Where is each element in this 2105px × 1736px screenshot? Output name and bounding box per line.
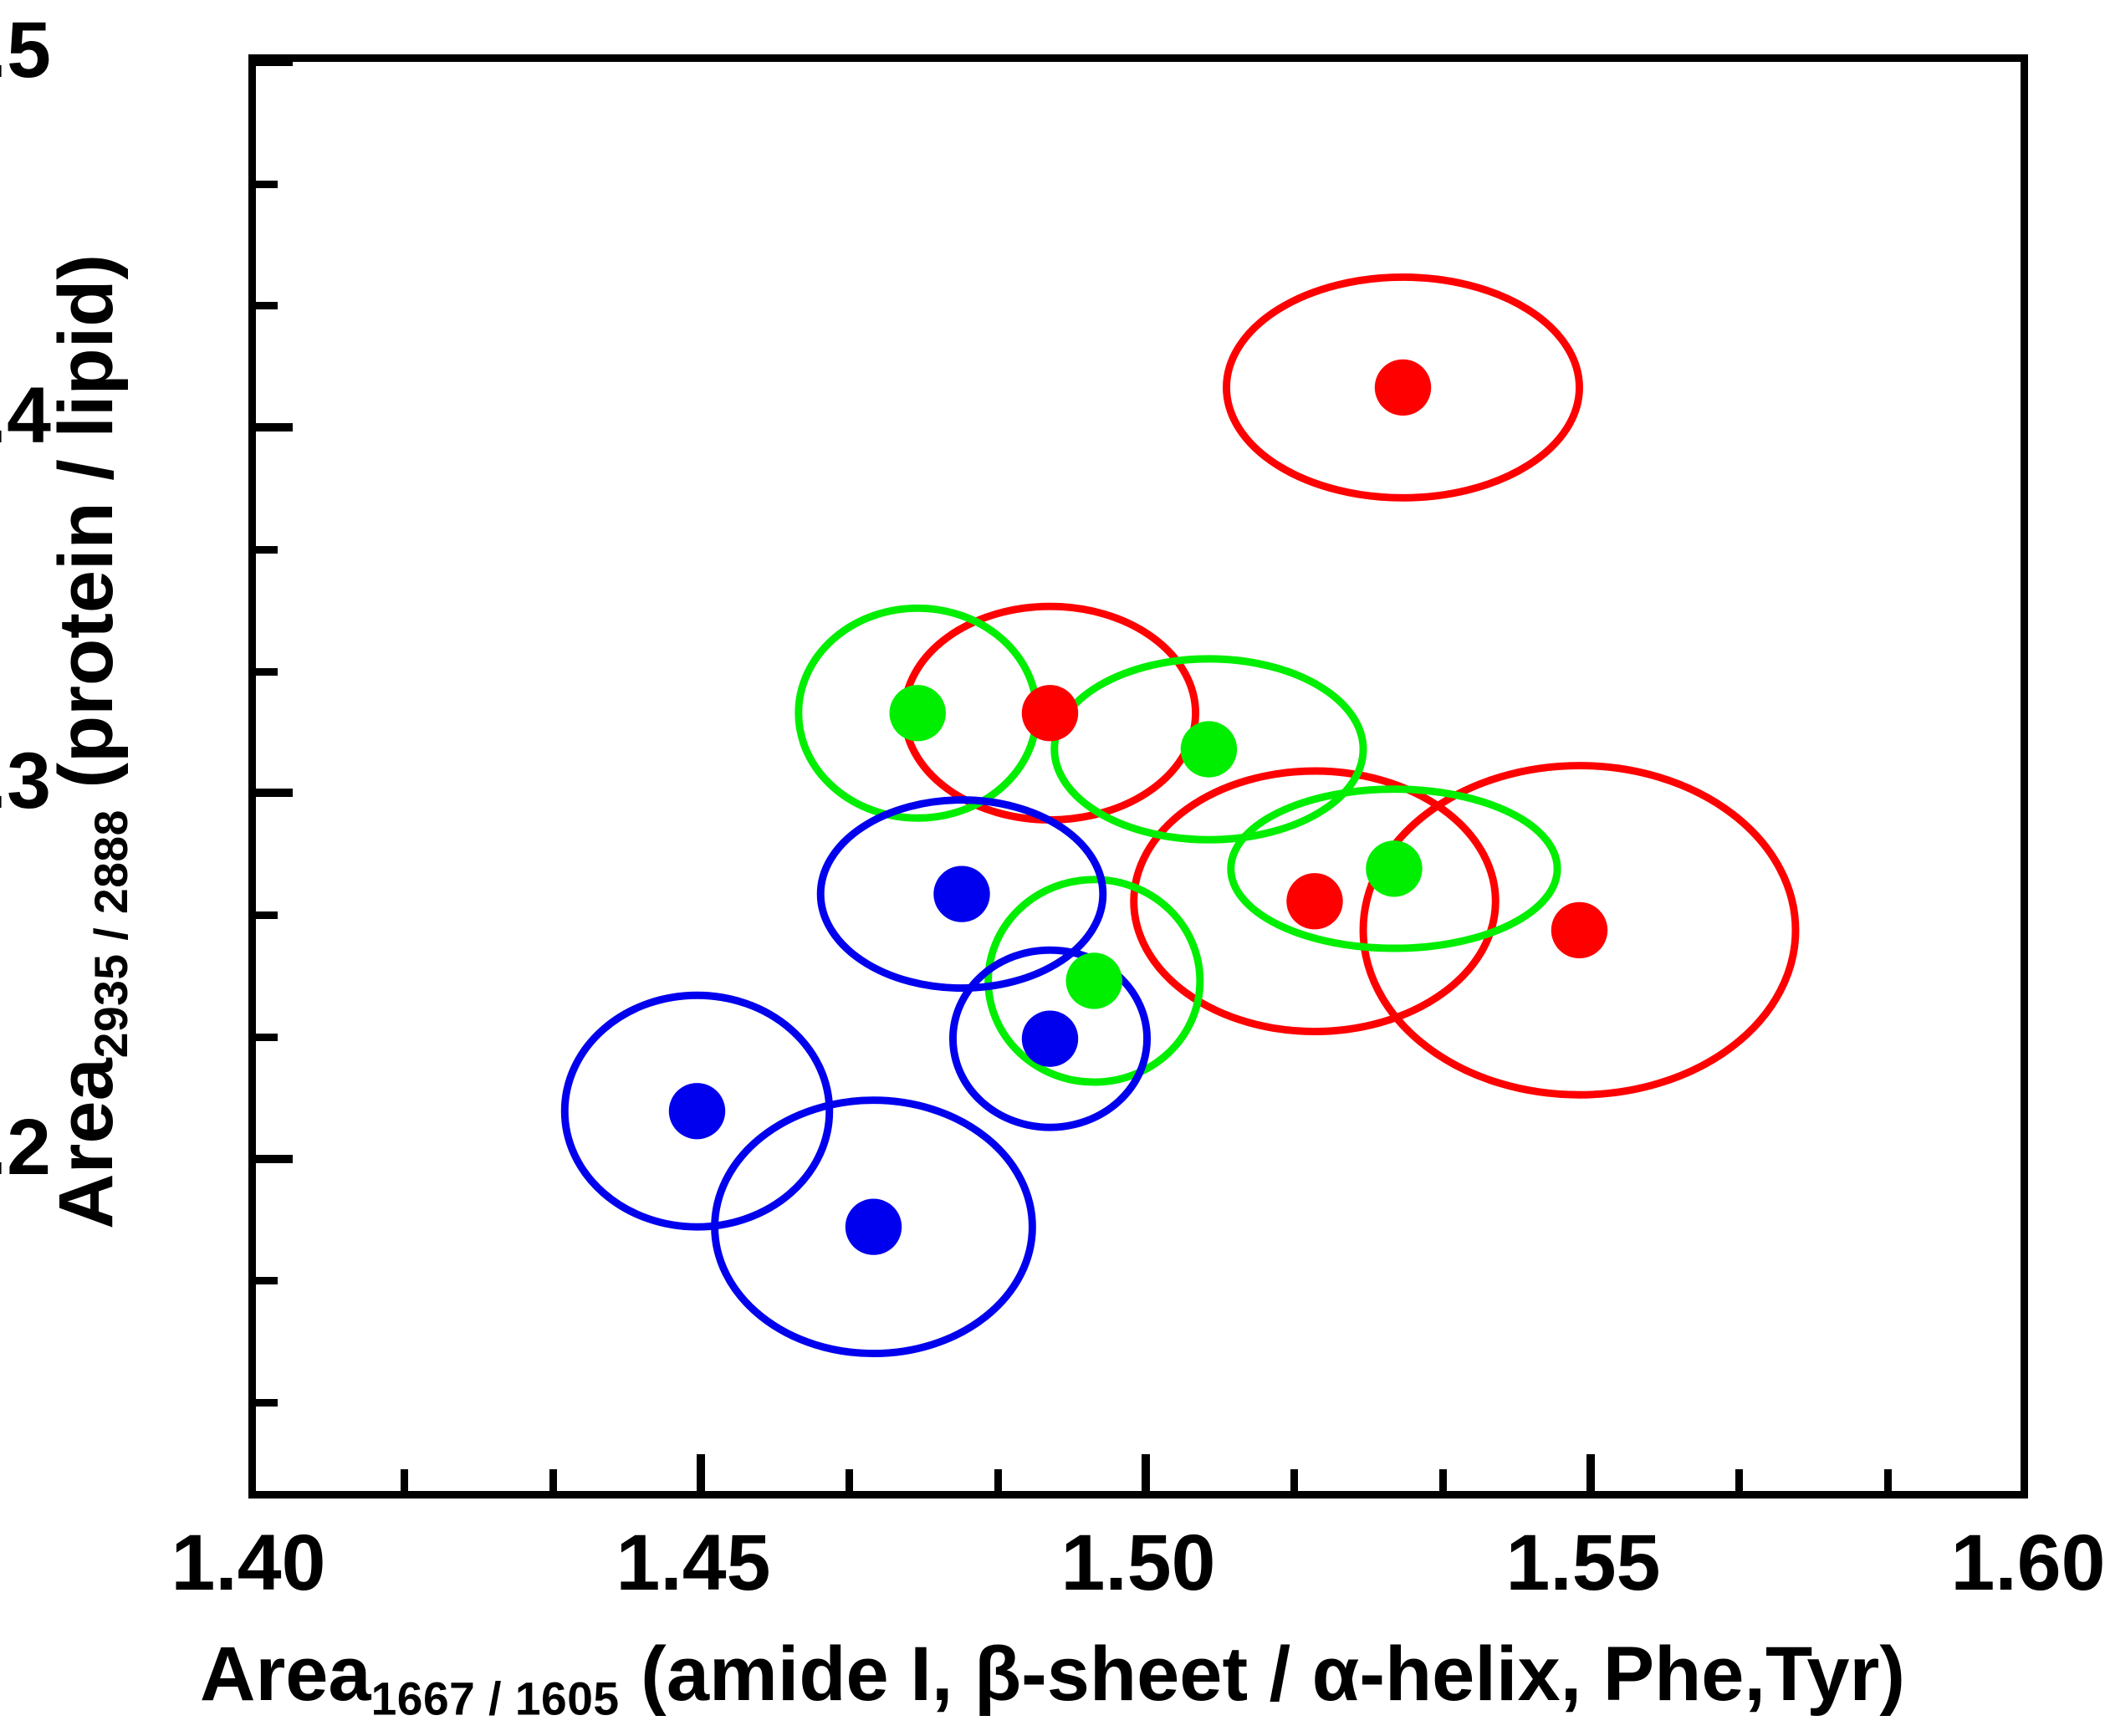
x-tick-label-2: 1.50 bbox=[1061, 1524, 1216, 1603]
x-tick-label-3: 1.55 bbox=[1506, 1524, 1661, 1603]
y-tick-minor bbox=[256, 302, 278, 309]
data-point-red-0[interactable] bbox=[1375, 360, 1431, 416]
x-tick-minor bbox=[1439, 1469, 1447, 1491]
data-point-green-2[interactable] bbox=[1366, 840, 1422, 896]
y-tick-minor bbox=[256, 546, 278, 554]
x-tick-minor bbox=[1884, 1469, 1892, 1491]
plot-area bbox=[248, 54, 2028, 1499]
x-tick-minor bbox=[994, 1469, 1002, 1491]
y-axis-title-subscript: 2935 / 2888 bbox=[85, 809, 137, 1058]
y-axis-title-suffix: (protein / lipid) bbox=[43, 254, 129, 809]
data-point-red-3[interactable] bbox=[1551, 902, 1607, 958]
y-tick-major-3 bbox=[256, 1155, 293, 1163]
y-tick-minor bbox=[256, 1034, 278, 1041]
x-axis-title: Area1667 / 1605 (amide I, β-sheet / α-he… bbox=[0, 1631, 2105, 1726]
data-point-blue-2[interactable] bbox=[669, 1083, 725, 1139]
data-point-blue-0[interactable] bbox=[933, 865, 989, 922]
y-axis-title-prefix: Area bbox=[43, 1058, 129, 1229]
data-point-blue-1[interactable] bbox=[1022, 1011, 1078, 1067]
y-tick-minor bbox=[256, 181, 278, 188]
plot-canvas bbox=[256, 62, 2021, 1491]
y-tick-major-1 bbox=[256, 423, 293, 431]
y-axis-title: Area2935 / 2888 (protein / lipid) bbox=[43, 31, 138, 1453]
x-axis-title-subscript: 1667 / 1605 bbox=[371, 1673, 620, 1725]
x-axis-title-suffix: (amide I, β-sheet / α-helix, Phe,Tyr) bbox=[620, 1631, 1905, 1717]
data-point-green-0[interactable] bbox=[890, 685, 946, 741]
data-point-red-2[interactable] bbox=[1286, 873, 1342, 929]
data-point-blue-3[interactable] bbox=[846, 1199, 902, 1255]
y-tick-minor bbox=[256, 1277, 278, 1284]
confidence-ellipses-layer bbox=[565, 277, 1796, 1353]
y-tick-major-0 bbox=[256, 58, 293, 66]
x-tick-minor bbox=[846, 1469, 853, 1491]
data-point-green-1[interactable] bbox=[1181, 721, 1237, 777]
x-tick-label-1: 1.45 bbox=[616, 1524, 771, 1603]
x-tick-minor bbox=[1735, 1469, 1743, 1491]
x-axis-title-prefix: Area bbox=[200, 1631, 371, 1717]
data-point-red-1[interactable] bbox=[1022, 685, 1078, 741]
y-tick-minor bbox=[256, 911, 278, 919]
x-tick-major-1 bbox=[697, 1454, 705, 1491]
scatter-plot-figure: 1.51.41.31.21.401.451.501.551.60 Area293… bbox=[0, 0, 2105, 1736]
x-tick-major-2 bbox=[1142, 1454, 1150, 1491]
x-tick-minor bbox=[1290, 1469, 1298, 1491]
y-tick-minor bbox=[256, 668, 278, 676]
x-tick-major-3 bbox=[1586, 1454, 1595, 1491]
x-tick-label-0: 1.40 bbox=[171, 1524, 326, 1603]
data-point-green-3[interactable] bbox=[1066, 952, 1122, 1008]
y-tick-minor bbox=[256, 1399, 278, 1407]
x-tick-minor bbox=[549, 1469, 557, 1491]
y-tick-major-2 bbox=[256, 789, 293, 797]
x-tick-label-4: 1.60 bbox=[1951, 1524, 2105, 1603]
x-tick-minor bbox=[401, 1469, 408, 1491]
